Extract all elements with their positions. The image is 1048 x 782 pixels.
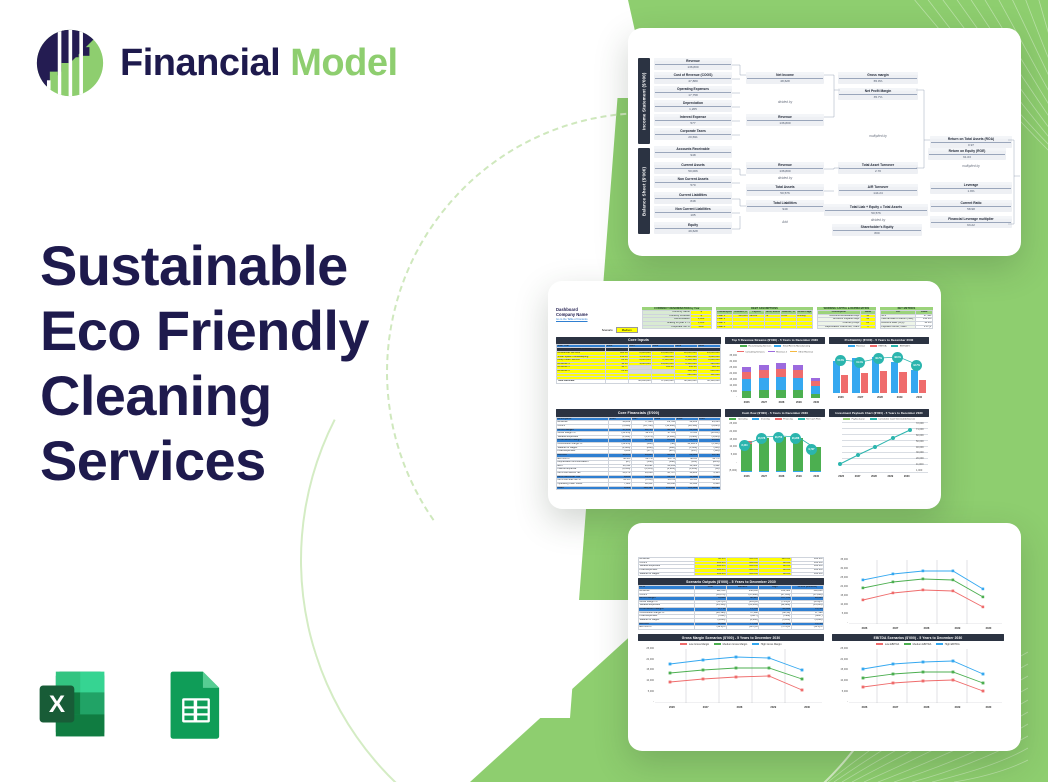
headline-line-3: Cleaning <box>40 364 460 429</box>
panel-debt-assumptions: DEBT ASSUMPTIONS Loan/Export Name Amount… <box>716 307 813 329</box>
background-white-notch <box>470 0 650 100</box>
panel-key-metrics: KEY METRICS KPIValue NPV47,481 Internal … <box>880 307 933 329</box>
chart-ebitda-scenarios: EBITDA Scenarios ($'000) - 5 Years to De… <box>832 634 1004 711</box>
legend-item: Revenue <box>848 345 865 347</box>
chart-title: EBITDA Scenarios ($'000) - 5 Years to De… <box>832 634 1004 641</box>
table-row: Internal Rate of Return (IRR), %144.6% <box>880 318 932 322</box>
legend-item: Payback year <box>843 418 865 420</box>
chart-x-axis: 2026 2027 2028 2029 2030 <box>849 703 1004 711</box>
brand-name-part1: Financial <box>120 42 280 84</box>
svg-text:X: X <box>49 691 65 718</box>
chart-plot-area: 44.4% 41.1% 46.7% 48.0% 42.7% 2026 2027 … <box>829 349 929 401</box>
chart-title: Top 5 Revenue Streams ($'000) - 5 Years … <box>725 337 825 344</box>
bar-group <box>742 354 751 398</box>
legend-item: Net Cash Flow <box>798 418 821 420</box>
chart-plot-area: 25,000 20,000 15,000 10,000 5,000 - <box>832 647 1004 711</box>
poster-canvas: Financial Model Sustainable Eco Friendly… <box>0 0 1048 782</box>
chart-gross-margin-scenarios: Gross Margin Scenarios ($'000) - 5 Years… <box>638 634 824 711</box>
legend-item: Small Rent & Manufacturing <box>774 345 810 347</box>
scenario-label: Scenario <box>602 328 613 332</box>
panel-currency-denomination: CURRENCY DENOMINATION by Year Currency N… <box>642 307 712 329</box>
table-row: Depreciation Useful Life, Years5 <box>817 325 875 329</box>
legend-item: High Gross Margin <box>752 643 781 646</box>
bar-group <box>793 354 802 398</box>
legend-item: Housekeeping Services <box>740 345 771 347</box>
chart-x-axis: 2026 2027 2028 2029 2030 <box>849 624 1004 632</box>
legend-item: Medium EBITDA <box>904 643 931 646</box>
data-label-bubble: 20,288 <box>790 433 801 444</box>
dupont-sheet: Income Statement ($'000) Balance Sheet (… <box>628 28 1021 256</box>
core-financials-table: Description 2026 2027 2028 2029 2030 Rev… <box>556 417 721 491</box>
chart-cash-flow: Cash flow ($'000) - 5 Years to December … <box>725 409 825 490</box>
table-row: Salaries & Wages102.0%100.0%98.0%100.0% <box>639 572 824 576</box>
chart-y-axis: 35,000 30,000 25,000 20,000 15,000 10,00… <box>832 558 849 624</box>
core-inputs-table: Start Year 2026 2027 2028 2029 2030 Reve… <box>556 344 721 384</box>
chart-line-series <box>849 649 1002 703</box>
data-label-bubble: 44.4% <box>835 355 846 366</box>
table-row: Total Revenue30,200,00037,800,00038,400,… <box>557 380 721 384</box>
data-label-bubble: 41.1% <box>854 357 865 368</box>
chart-x-axis: 2026 2027 2028 2029 2030 <box>833 472 915 480</box>
chart-plot-area: 35,000 30,000 25,000 20,000 15,000 10,00… <box>832 558 1004 632</box>
legend-item: Low Gross Margin <box>680 643 709 646</box>
debt-table: Loan/Export Name Amount, $ Layout Term, … <box>716 310 813 329</box>
page-title: Sustainable Eco Friendly Cleaning Servic… <box>40 234 460 494</box>
legend-item: Cumulative Cash Generated (Source) <box>870 418 915 420</box>
legend-item: Investing <box>752 418 769 420</box>
chart-y-axis: 35,000 30,000 25,000 20,000 15,000 10,00… <box>725 354 738 398</box>
scenario-selector[interactable]: Medium <box>616 327 638 333</box>
table-row: Loan 4 <box>717 325 813 329</box>
headline-line-2: Eco Friendly <box>40 299 460 364</box>
table-row: Payback Period, Years1.07 yr <box>880 325 932 329</box>
data-label-bubble: 8,444 <box>739 440 750 451</box>
scenario-sheet: Revenue80.0%100.0%120.0%100.0% COGS105.0… <box>628 523 1021 751</box>
screenshot-scenario-analysis[interactable]: Revenue80.0%100.0%120.0%100.0% COGS105.0… <box>628 523 1021 751</box>
scenario-left-column: Revenue80.0%100.0%120.0%100.0% COGS105.0… <box>638 557 824 632</box>
legend-item: EBITDA <box>870 345 886 347</box>
chart-top5-revenue-streams: Top 5 Revenue Streams ($'000) - 5 Years … <box>725 337 825 407</box>
scenario-assumptions-table: Revenue80.0%100.0%120.0%100.0% COGS105.0… <box>638 557 824 576</box>
data-label-bubble: 46.7% <box>873 353 884 364</box>
data-label-bubble: 20,750 <box>773 432 784 443</box>
chart-plot-area: 72,000 71,000 60,000 50,000 40,000 30,00… <box>829 422 929 480</box>
legend-item: Operating <box>729 418 747 420</box>
chart-y-axis: 25,000 20,000 15,000 10,000 5,000 - <box>832 647 849 703</box>
chart-x-axis: 2026 2027 2028 2029 2030 <box>738 472 825 480</box>
chart-title: Profitability ($'000) - 5 Years to Decem… <box>829 337 929 344</box>
legend-item: High EBITDA <box>936 643 959 646</box>
chart-title: Cash flow ($'000) - 5 Years to December … <box>725 409 825 416</box>
bar-group <box>759 354 768 398</box>
chart-plot-area: 35,000 30,000 25,000 20,000 15,000 10,00… <box>725 354 825 406</box>
table-row: Cash8,808108,191101,002101,08848,091 <box>557 486 721 490</box>
chart-y-axis: 25,000 20,000 15,000 10,000 5,000 - (5,0… <box>725 422 738 472</box>
data-label-bubble: 9,727 <box>806 444 817 455</box>
chart-bars <box>738 354 824 398</box>
bar-group <box>811 354 820 398</box>
file-format-icons: X <box>35 667 233 741</box>
key-metrics-table: KPIValue NPV47,481 Internal Rate of Retu… <box>880 310 933 329</box>
legend-item: Low EBITDA <box>876 643 899 646</box>
chart-plot-area: 25,000 20,000 15,000 10,000 5,000 - <box>638 647 824 711</box>
dashboard-sheet: Dashboard Company Name Go to the Table o… <box>548 281 941 509</box>
legend-item: Consulting Services <box>737 351 765 353</box>
chart-line-series <box>849 560 1002 624</box>
screenshot-dupont-analysis[interactable]: Income Statement ($'000) Balance Sheet (… <box>628 28 1021 256</box>
screenshot-financial-dashboard[interactable]: Dashboard Company Name Go to the Table o… <box>548 281 941 509</box>
microsoft-excel-icon: X <box>35 667 109 741</box>
core-financials-title: Core Financials ($'000) <box>556 409 721 416</box>
data-label-bubble: 20,378 <box>756 433 767 444</box>
bar-group <box>776 354 785 398</box>
chart-plot-area: 25,000 20,000 15,000 10,000 5,000 - (5,0… <box>725 422 825 480</box>
legend-item: EBITDA % <box>891 345 910 347</box>
chart-x-axis: 2026 2027 2028 2029 2030 <box>831 393 929 401</box>
legend-item: Other Revenue <box>790 351 813 353</box>
google-sheets-icon <box>159 667 233 741</box>
core-inputs-title: Core Inputs <box>556 337 721 344</box>
brand-wordmark: Financial Model <box>120 44 398 82</box>
chart-title: Investment Payback Chart ($'000) - 5 Yea… <box>829 409 929 416</box>
data-label-bubble: 42.7% <box>911 360 922 371</box>
chart-x-axis: 2026 2027 2028 2029 2030 <box>738 398 825 406</box>
core-financials-block: Core Financials ($'000) Description 2026… <box>556 409 721 490</box>
chart-profitability: Profitability ($'000) - 5 Years to Decem… <box>829 337 929 407</box>
chart-title: Gross Margin Scenarios ($'000) - 5 Years… <box>638 634 824 641</box>
scenario-outputs-table: KPIs Low Medium High Active (Medium) Rev… <box>638 585 824 630</box>
scenario-outputs-title: Scenario Outputs ($'000) - 5 Years to De… <box>638 578 824 585</box>
panel-wc-title: WORKING CAPITAL & DEPRECIATION <box>817 307 876 310</box>
legend-item: Medium Gross Margin <box>714 643 747 646</box>
panel-working-capital: WORKING CAPITAL & DEPRECIATION Assumptio… <box>817 307 876 329</box>
chart-line-series <box>655 649 822 703</box>
chart-revenue-scenarios: 35,000 30,000 25,000 20,000 15,000 10,00… <box>832 557 1004 632</box>
currency-table: Currency Name$ Currency Forecast$ Denomi… <box>642 310 712 329</box>
brand-logo: Financial Model <box>34 27 398 99</box>
legend-item: Financing <box>775 418 793 420</box>
table-row: EBITDA %(42.1)%(52.1)%(57.0)%(52.1)% <box>639 626 824 630</box>
dashboard-toc-link[interactable]: Go to the Table of Contents <box>556 318 638 321</box>
chart-y-axis: 25,000 20,000 15,000 10,000 5,000 - <box>638 647 655 703</box>
table-row: Small Space Housekeeping152.105,350,0007… <box>557 355 721 359</box>
chart-legend: Housekeeping Services Small Rent & Manuf… <box>725 344 825 355</box>
table-row: Corporate Tax %30% <box>642 325 711 329</box>
headline-line-4: Services <box>40 429 460 494</box>
headline-line-1: Sustainable <box>40 234 460 299</box>
dupont-connector-lines <box>628 28 1021 256</box>
core-inputs-block: Core Inputs Start Year 2026 2027 2028 20… <box>556 337 721 407</box>
chart-x-axis: 2026 2027 2028 2029 2030 <box>655 703 824 711</box>
data-label-bubble: 48.0% <box>892 352 903 363</box>
working-capital-table: AssumptionValue Accounts Receivable Days… <box>817 310 876 329</box>
chart-line-series <box>833 424 915 472</box>
chart-investment-payback: Investment Payback Chart ($'000) - 5 Yea… <box>829 409 929 490</box>
legend-item: Revenue 4 <box>768 351 787 353</box>
chart-y-axis: 72,000 71,000 60,000 50,000 40,000 30,00… <box>916 422 929 472</box>
dashboard-title-block: Dashboard Company Name Go to the Table o… <box>556 307 638 333</box>
circle-barchart-logo-icon <box>34 27 106 99</box>
brand-name-part2: Model <box>290 42 397 84</box>
